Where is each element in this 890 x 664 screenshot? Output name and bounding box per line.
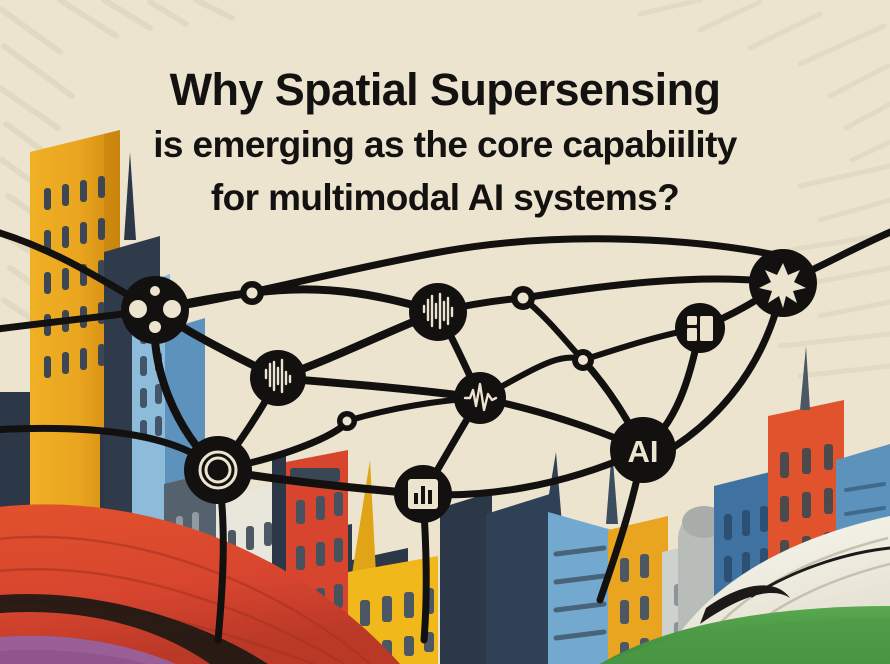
node-dot-cluster[interactable] — [121, 276, 189, 344]
building-dark-blue-tall — [486, 494, 550, 664]
node-concentric-rings[interactable] — [184, 436, 252, 504]
node-star-burst[interactable] — [749, 249, 817, 317]
ring-connector-icon[interactable] — [511, 286, 535, 310]
illustration-artboard: AI — [0, 0, 890, 664]
ring-connector-icon[interactable] — [572, 349, 594, 371]
node-waveform[interactable] — [250, 350, 306, 406]
ring-connector-icon[interactable] — [337, 411, 357, 431]
node-ai[interactable]: AI — [610, 417, 676, 483]
node-layout-grid[interactable] — [675, 303, 725, 353]
layout-grid-icon — [687, 316, 713, 341]
node-pulse[interactable] — [454, 372, 506, 424]
ai-node-label: AI — [628, 434, 659, 469]
building-navy-center-d — [440, 492, 492, 664]
rings-core — [211, 463, 225, 477]
node-audio-waveform[interactable] — [409, 283, 467, 341]
ring-connector-icon[interactable] — [240, 281, 264, 305]
node-bar-chart[interactable] — [394, 465, 452, 523]
poster-canvas: AI Why Spatial Supersensing — [0, 0, 890, 664]
